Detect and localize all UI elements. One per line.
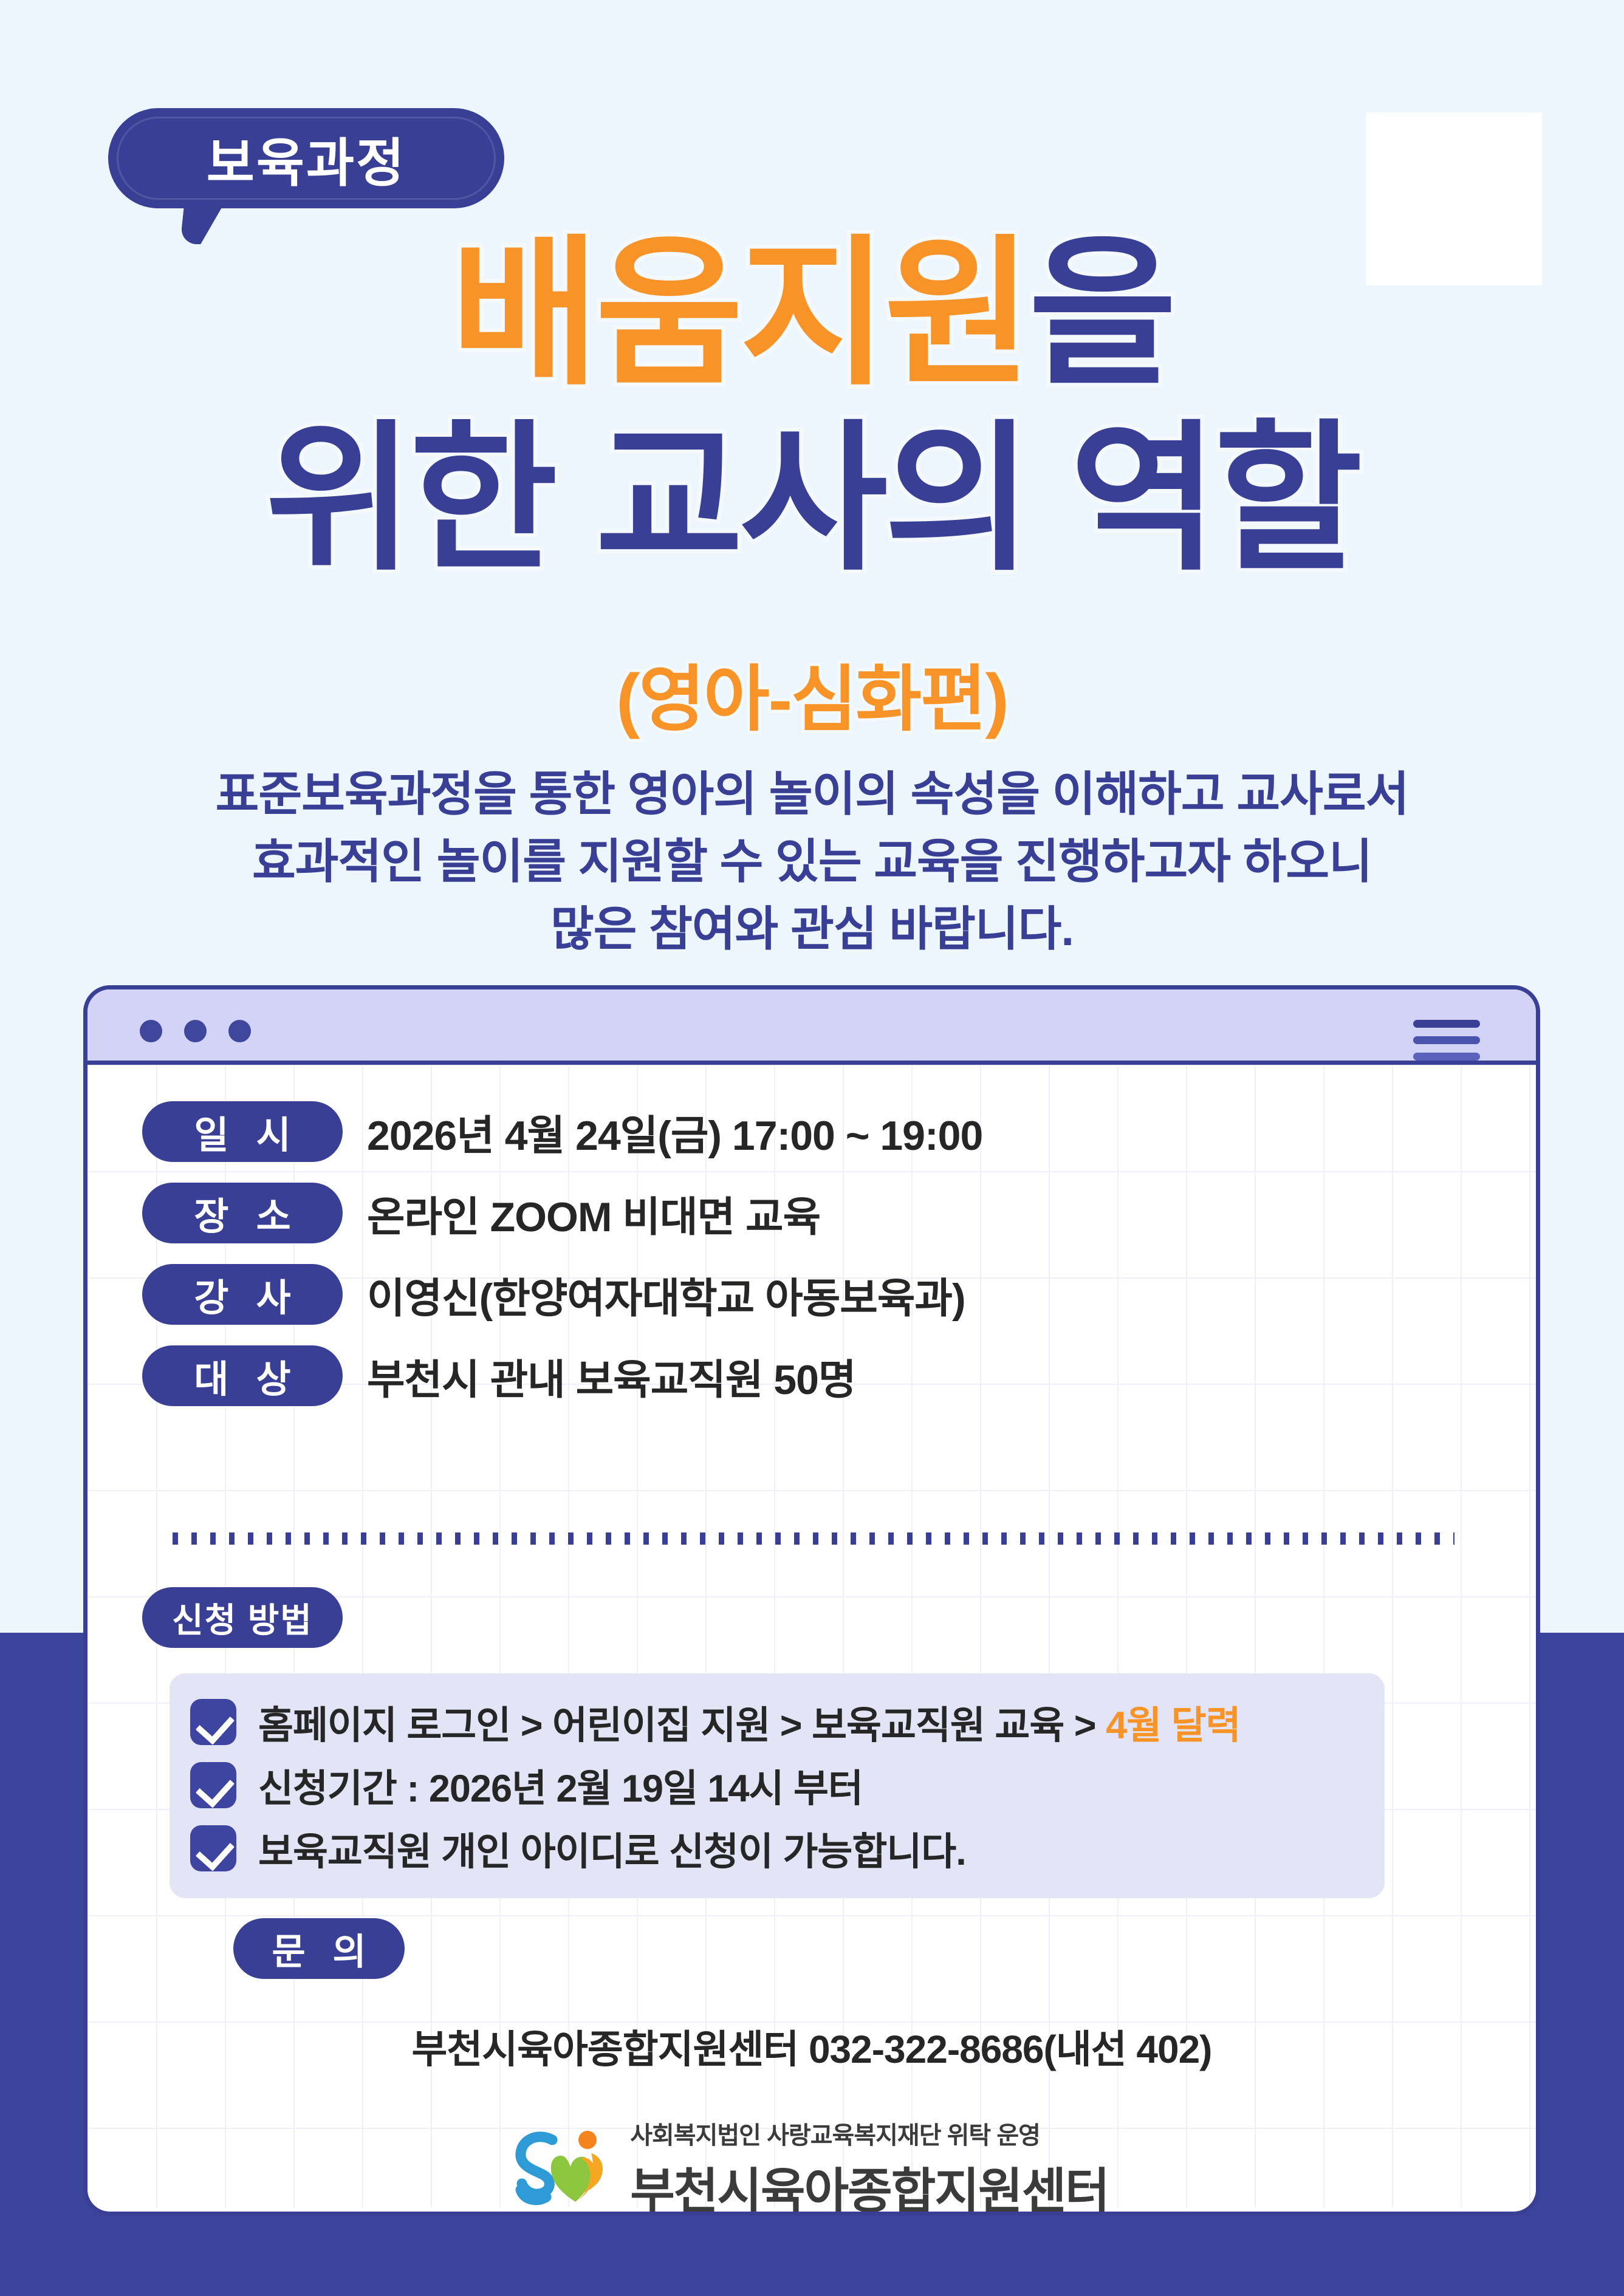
check-icon [190, 1825, 236, 1871]
hamburger-menu-icon[interactable] [1413, 1020, 1480, 1061]
poster-header: 보육과정 배움지원을 위한 교사의 역할 (영아-심화편) 표준보육과정을 통한… [0, 0, 1624, 966]
info-label-instructor: 강 사 [142, 1264, 343, 1325]
window-dot [140, 1020, 162, 1042]
apply-item-text: 보육교직원 개인 아이디로 신청이 가능합니다. [258, 1821, 966, 1876]
apply-list-item: 보육교직원 개인 아이디로 신청이 가능합니다. [190, 1817, 1364, 1880]
check-icon [190, 1699, 236, 1745]
apply-list-item: 신청기간 : 2026년 2월 19일 14시 부터 [190, 1754, 1364, 1817]
logo-line-2: 부천시육아종합지원센터 [630, 2152, 1109, 2216]
course-category-label: 보육과정 [207, 120, 406, 196]
apply-item-text-highlight: 4월 달력 [1106, 1704, 1240, 1747]
description-line: 효과적인 놀이를 지원할 수 있는 교육을 진행하고자 하오니 [0, 828, 1624, 895]
soi-logo-icon [515, 2127, 614, 2212]
window-dot [228, 1020, 251, 1042]
poster-subtitle: (영아-심화편) [0, 641, 1624, 745]
info-row-datetime: 일 시 2026년 4월 24일(금) 17:00 ~ 19:00 [142, 1100, 982, 1163]
poster-title-line-1: 배움지원을 [0, 234, 1624, 395]
apply-item-text: 홈페이지 로그인 > 어린이집 지원 > 보육교직원 교육 > 4월 달력 [258, 1695, 1241, 1750]
window-titlebar [87, 989, 1536, 1065]
course-category-badge: 보육과정 [108, 108, 504, 208]
info-value-location: 온라인 ZOOM 비대면 교육 [367, 1183, 820, 1243]
description-line: 표준보육과정을 통한 영아의 놀이의 속성을 이해하고 교사로서 [0, 760, 1624, 828]
apply-method-list: 홈페이지 로그인 > 어린이집 지원 > 보육교직원 교육 > 4월 달력 신청… [170, 1673, 1385, 1898]
window-dot [184, 1020, 207, 1042]
traffic-lights-icon [140, 1020, 251, 1042]
dotted-divider [173, 1532, 1454, 1545]
contact-badge: 문 의 [233, 1918, 405, 1979]
info-row-location: 장 소 온라인 ZOOM 비대면 교육 [142, 1181, 982, 1245]
organization-logo: 사회복지법인 사랑교육복지재단 위탁 운영 부천시육아종합지원센터 [87, 2116, 1536, 2216]
info-value-datetime: 2026년 4월 24일(금) 17:00 ~ 19:00 [367, 1102, 982, 1162]
window-body: 일 시 2026년 4월 24일(금) 17:00 ~ 19:00 장 소 온라… [87, 1065, 1536, 2207]
check-icon [190, 1762, 236, 1808]
description-line: 많은 참여와 관심 바랍니다. [0, 895, 1624, 963]
info-window-card: 일 시 2026년 4월 24일(금) 17:00 ~ 19:00 장 소 온라… [83, 985, 1540, 2216]
title-part-orange: 배움지원 [451, 224, 1029, 404]
apply-list-item: 홈페이지 로그인 > 어린이집 지원 > 보육교직원 교육 > 4월 달력 [190, 1690, 1364, 1754]
info-value-instructor: 이영신(한양여자대학교 아동보육과) [367, 1265, 965, 1325]
info-rows-list: 일 시 2026년 4월 24일(금) 17:00 ~ 19:00 장 소 온라… [142, 1100, 982, 1426]
poster-title-line-2: 위한 교사의 역할 [0, 419, 1624, 580]
info-row-audience: 대 상 부천시 관내 보육교직원 50명 [142, 1344, 982, 1407]
apply-item-text: 신청기간 : 2026년 2월 19일 14시 부터 [258, 1758, 863, 1813]
info-label-datetime: 일 시 [142, 1101, 343, 1162]
poster-description: 표준보육과정을 통한 영아의 놀이의 속성을 이해하고 교사로서 효과적인 놀이… [0, 760, 1624, 962]
info-row-instructor: 강 사 이영신(한양여자대학교 아동보육과) [142, 1263, 982, 1326]
hamburger-bar [1413, 1036, 1480, 1044]
hamburger-bar [1413, 1020, 1480, 1028]
hamburger-bar [1413, 1053, 1480, 1061]
logo-text-block: 사회복지법인 사랑교육복지재단 위탁 운영 부천시육아종합지원센터 [630, 2116, 1109, 2216]
apply-item-text-plain: 홈페이지 로그인 > 어린이집 지원 > 보육교직원 교육 > [258, 1704, 1106, 1747]
logo-line-1: 사회복지법인 사랑교육복지재단 위탁 운영 [630, 2116, 1109, 2151]
apply-method-badge: 신청 방법 [142, 1587, 343, 1648]
info-label-location: 장 소 [142, 1183, 343, 1243]
info-label-audience: 대 상 [142, 1345, 343, 1406]
info-value-audience: 부천시 관내 보육교직원 50명 [367, 1346, 855, 1406]
contact-text: 부천시육아종합지원센터 032-322-8686(내선 402) [87, 2018, 1536, 2074]
title-part-blue: 을 [1029, 224, 1173, 404]
